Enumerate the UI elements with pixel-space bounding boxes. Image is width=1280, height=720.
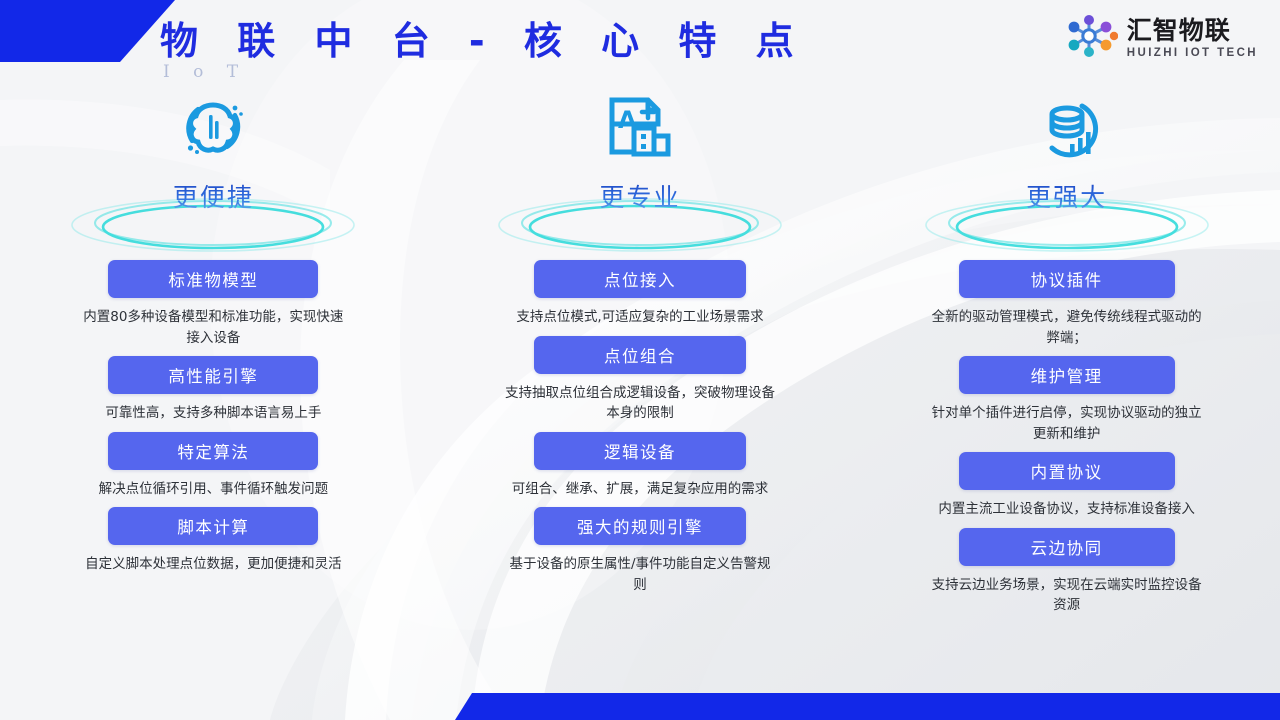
feature-item: 点位组合 支持抽取点位组合成逻辑设备，突破物理设备本身的限制 <box>427 336 854 424</box>
feature-pill[interactable]: 点位组合 <box>534 336 746 374</box>
gear-brain-icon <box>175 90 251 168</box>
feature-desc: 内置80多种设备模型和标准功能，实现快速接入设备 <box>77 307 349 348</box>
feature-pill[interactable]: 点位接入 <box>534 260 746 298</box>
column-heading-1: 更便捷 <box>173 178 254 214</box>
feature-pill[interactable]: 逻辑设备 <box>534 432 746 470</box>
logo-name-cn: 汇智物联 <box>1127 18 1258 43</box>
feature-item: 协议插件 全新的驱动管理模式，避免传统线程式驱动的弊端； <box>853 260 1280 348</box>
database-chart-icon <box>1030 90 1104 168</box>
feature-item: 云边协同 支持云边业务场景，实现在云端实时监控设备资源 <box>853 528 1280 616</box>
column-heading-3: 更强大 <box>1026 178 1107 214</box>
feature-column-2: A 更专业 点位接入 支持点位模式,可适应复杂的工业场景需求 点位组合 <box>427 86 854 706</box>
feature-column-1: 更便捷 标准物模型 内置80多种设备模型和标准功能，实现快速接入设备 高性能引擎… <box>0 86 427 706</box>
feature-item: 点位接入 支持点位模式,可适应复杂的工业场景需求 <box>427 260 854 328</box>
feature-item: 内置协议 内置主流工业设备协议，支持标准设备接入 <box>853 452 1280 520</box>
feature-pill[interactable]: 特定算法 <box>108 432 318 470</box>
feature-column-3: 更强大 协议插件 全新的驱动管理模式，避免传统线程式驱动的弊端； 维护管理 针对… <box>853 86 1280 706</box>
column-heading-2: 更专业 <box>600 178 681 214</box>
feature-item: 高性能引擎 可靠性高，支持多种脚本语言易上手 <box>0 356 427 424</box>
document-aplus-building-icon: A <box>604 90 676 168</box>
feature-desc: 自定义脚本处理点位数据，更加便捷和灵活 <box>77 554 349 575</box>
feature-list-1: 标准物模型 内置80多种设备模型和标准功能，实现快速接入设备 高性能引擎 可靠性… <box>0 260 427 583</box>
feature-desc: 可组合、继承、扩展，满足复杂应用的需求 <box>504 479 776 500</box>
feature-desc: 支持点位模式,可适应复杂的工业场景需求 <box>504 307 776 328</box>
feature-desc: 基于设备的原生属性/事件功能自定义告警规则 <box>504 554 776 595</box>
feature-desc: 支持抽取点位组合成逻辑设备，突破物理设备本身的限制 <box>504 383 776 424</box>
feature-pill[interactable]: 脚本计算 <box>108 507 318 545</box>
feature-desc: 全新的驱动管理模式，避免传统线程式驱动的弊端； <box>931 307 1203 348</box>
page-title: 物 联 中 台 - 核 心 特 点 <box>160 10 807 65</box>
feature-list-2: 点位接入 支持点位模式,可适应复杂的工业场景需求 点位组合 支持抽取点位组合成逻… <box>427 260 854 603</box>
feature-item: 标准物模型 内置80多种设备模型和标准功能，实现快速接入设备 <box>0 260 427 348</box>
feature-item: 强大的规则引擎 基于设备的原生属性/事件功能自定义告警规则 <box>427 507 854 595</box>
column-heading-wrap-2: 更专业 <box>427 168 854 260</box>
feature-item: 维护管理 针对单个插件进行启停，实现协议驱动的独立更新和维护 <box>853 356 1280 444</box>
feature-pill[interactable]: 高性能引擎 <box>108 356 318 394</box>
feature-pill[interactable]: 云边协同 <box>959 528 1175 566</box>
feature-pill[interactable]: 维护管理 <box>959 356 1175 394</box>
feature-desc: 内置主流工业设备协议，支持标准设备接入 <box>931 499 1203 520</box>
feature-pill[interactable]: 强大的规则引擎 <box>534 507 746 545</box>
feature-item: 脚本计算 自定义脚本处理点位数据，更加便捷和灵活 <box>0 507 427 575</box>
feature-desc: 针对单个插件进行启停，实现协议驱动的独立更新和维护 <box>931 403 1203 444</box>
feature-pill[interactable]: 标准物模型 <box>108 260 318 298</box>
feature-item: 特定算法 解决点位循环引用、事件循环触发问题 <box>0 432 427 500</box>
feature-desc: 可靠性高，支持多种脚本语言易上手 <box>77 403 349 424</box>
slide-header: 物 联 中 台 - 核 心 特 点 I o T <box>0 0 1280 90</box>
page-subtitle: I o T <box>163 62 247 82</box>
logo-name-en: HUIZHI IOT TECH <box>1127 48 1258 60</box>
feature-columns: 更便捷 标准物模型 内置80多种设备模型和标准功能，实现快速接入设备 高性能引擎… <box>0 86 1280 706</box>
brand-logo: 汇智物联 HUIZHI IOT TECH <box>1062 14 1258 63</box>
feature-desc: 解决点位循环引用、事件循环触发问题 <box>77 479 349 500</box>
column-heading-wrap-1: 更便捷 <box>0 168 427 260</box>
feature-pill[interactable]: 内置协议 <box>959 452 1175 490</box>
feature-pill[interactable]: 协议插件 <box>959 260 1175 298</box>
molecule-network-icon <box>1062 14 1118 63</box>
feature-desc: 支持云边业务场景，实现在云端实时监控设备资源 <box>931 575 1203 616</box>
feature-item: 逻辑设备 可组合、继承、扩展，满足复杂应用的需求 <box>427 432 854 500</box>
feature-list-3: 协议插件 全新的驱动管理模式，避免传统线程式驱动的弊端； 维护管理 针对单个插件… <box>853 260 1280 624</box>
column-heading-wrap-3: 更强大 <box>853 168 1280 260</box>
